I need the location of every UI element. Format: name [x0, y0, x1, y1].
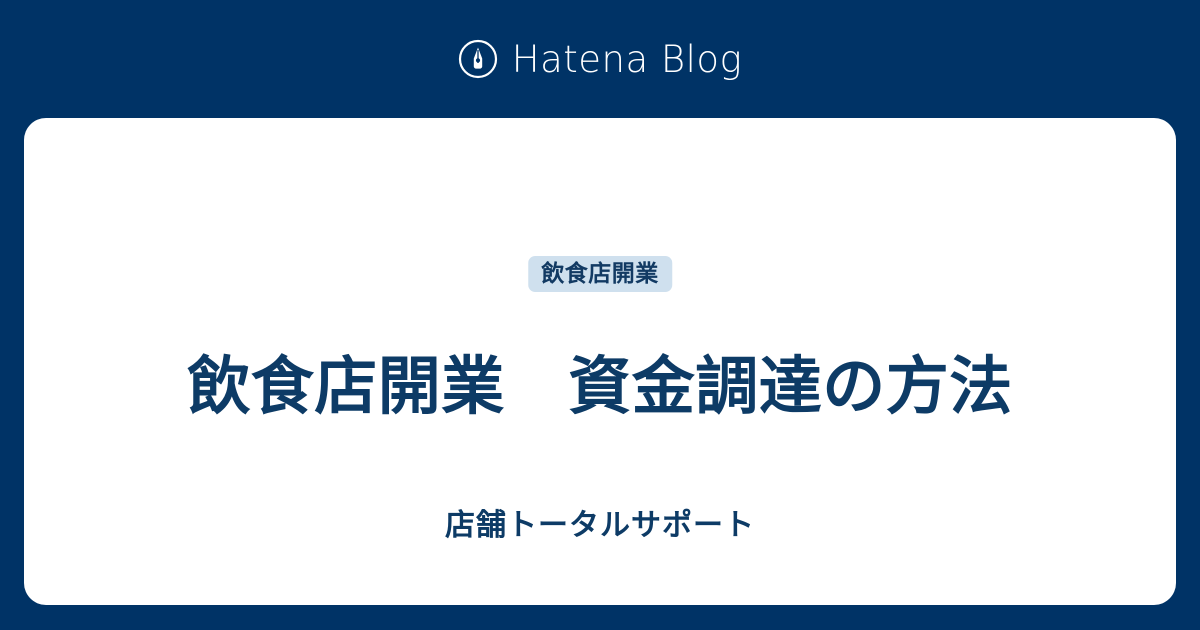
hatena-blog-brand[interactable]: Hatena Blog: [0, 0, 1200, 118]
og-image-canvas: Hatena Blog 飲食店開業 飲食店開業 資金調達の方法 店舗トータルサポ…: [0, 0, 1200, 630]
category-tag[interactable]: 飲食店開業: [528, 256, 672, 292]
hatena-blog-logo: [458, 39, 498, 79]
entry-card: 飲食店開業 飲食店開業 資金調達の方法 店舗トータルサポート: [24, 118, 1176, 605]
entry-card-inner: 飲食店開業 飲食店開業 資金調達の方法 店舗トータルサポート: [24, 118, 1176, 605]
blog-name: 店舗トータルサポート: [24, 508, 1176, 544]
entry-title: 飲食店開業 資金調達の方法: [24, 352, 1176, 423]
hatena-blog-wordmark: Hatena Blog: [512, 41, 743, 78]
fountain-pen-nib-in-circle-icon: [458, 39, 498, 79]
